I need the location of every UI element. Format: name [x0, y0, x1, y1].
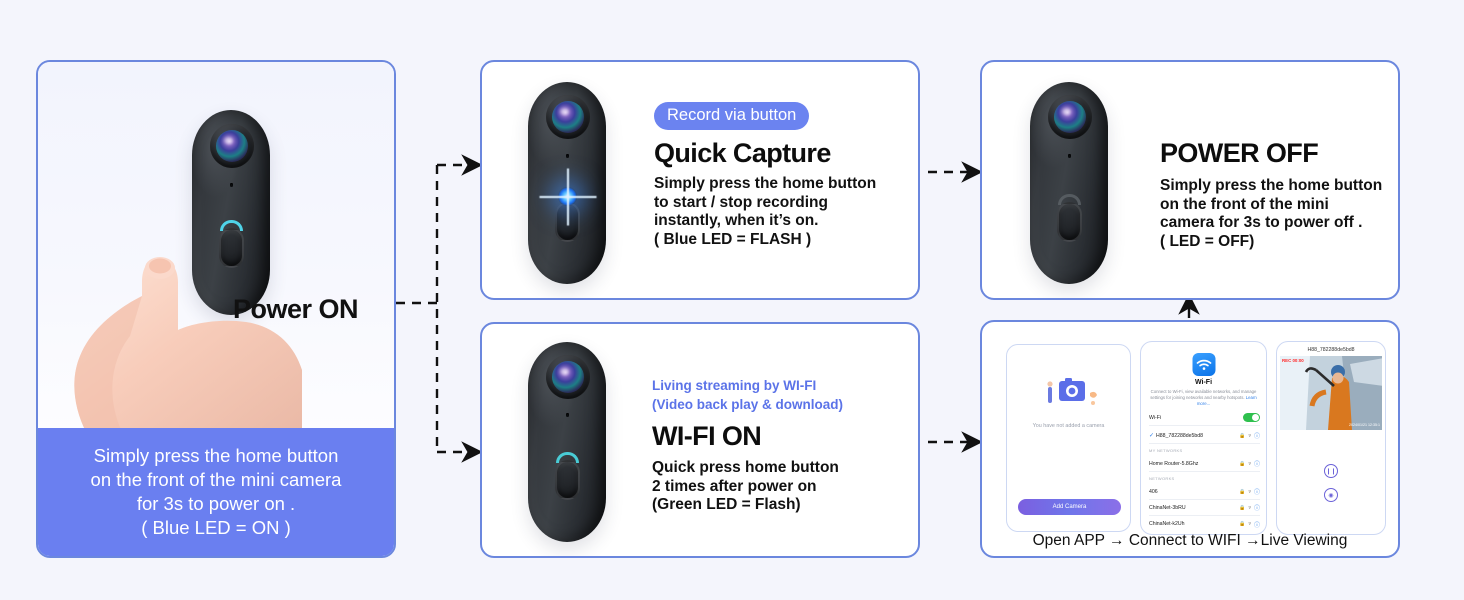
- wifi-on-desc-line-1: Quick press home button: [652, 459, 843, 478]
- quick-capture-desc-line-1: Simply press the home button: [654, 175, 876, 194]
- phone-screen-wifi-settings: Wi-Fi Connect to Wi-Fi, view available n…: [1140, 341, 1267, 535]
- wifi-desc-text: Connect to Wi-Fi, view available network…: [1150, 389, 1256, 400]
- wifi-on-desc-line-2: 2 times after power on: [652, 478, 843, 497]
- empty-state-illustration-icon: [1037, 373, 1101, 413]
- camera-microphone: [566, 413, 570, 417]
- section-networks: NETWORKS: [1149, 476, 1175, 481]
- snapshot-button[interactable]: ◉: [1324, 488, 1338, 502]
- wifi-toggle-row[interactable]: Wi-Fi: [1149, 410, 1260, 426]
- connected-network-name: H88_782288de5bd8: [1156, 433, 1203, 439]
- video-timestamp: 2024/01/21 12:35:1: [1349, 423, 1380, 427]
- network-name: 406: [1149, 489, 1158, 495]
- network-name: Home Router-5.8Ghz: [1149, 461, 1198, 467]
- signal-icon: ▿: [1248, 489, 1251, 495]
- add-camera-button[interactable]: Add Camera: [1018, 499, 1121, 515]
- power-on-caption-line-3: for 3s to power on .: [137, 492, 295, 516]
- camera-device-power-off: [1030, 82, 1108, 284]
- info-icon[interactable]: ⓘ: [1254, 431, 1260, 440]
- app-flow-caption: Open APP → Connect to WIFI →Live Viewing: [982, 532, 1398, 550]
- quick-capture-title: Quick Capture: [654, 138, 876, 169]
- panel-power-off: POWER OFF Simply press the home button o…: [980, 60, 1400, 300]
- infographic-canvas: Power ON Simply press the home button on…: [0, 0, 1464, 600]
- wifi-on-desc-line-3: (Green LED = Flash): [652, 496, 843, 515]
- camera-lens: [552, 101, 584, 133]
- signal-icon: ▿: [1248, 521, 1251, 527]
- info-icon[interactable]: ⓘ: [1254, 520, 1260, 529]
- wifi-settings-description: Connect to Wi-Fi, view available network…: [1149, 389, 1258, 407]
- section-my-networks: MY NETWORKS: [1149, 448, 1182, 453]
- phone-screen-live-view: H88_782288de5bd8 REC 00:00 2024/01/21 12…: [1276, 341, 1386, 535]
- record-via-button-badge: Record via button: [654, 102, 809, 130]
- wifi-icon: [1192, 353, 1215, 376]
- power-off-desc-line-4: ( LED = OFF): [1160, 233, 1382, 252]
- empty-state-text: You have not added a camera: [1007, 423, 1130, 429]
- camera-device-wifi-on: [528, 342, 606, 542]
- camera-home-button[interactable]: [1057, 202, 1082, 242]
- camera-lens: [216, 130, 248, 162]
- camera-microphone: [1068, 154, 1072, 158]
- power-on-caption: Simply press the home button on the fron…: [38, 428, 394, 556]
- lock-icon: 🔒: [1239, 521, 1245, 527]
- power-on-caption-line-1: Simply press the home button: [94, 444, 339, 468]
- wifi-on-title: WI-FI ON: [652, 421, 843, 452]
- camera-device-quick-capture: [528, 82, 606, 284]
- connected-network-row[interactable]: ✓ H88_782288de5bd8 🔒 ▿ ⓘ: [1149, 428, 1260, 444]
- wifi-settings-title: Wi-Fi: [1141, 379, 1266, 386]
- recording-badge: REC 00:00: [1282, 358, 1304, 363]
- power-on-caption-line-4: ( Blue LED = ON ): [141, 516, 291, 540]
- power-off-desc-line-1: Simply press the home button: [1160, 177, 1382, 196]
- info-icon[interactable]: ⓘ: [1254, 487, 1260, 496]
- wifi-on-text-block: Living streaming by WI-FI (Video back pl…: [652, 376, 843, 515]
- power-on-caption-line-2: on the front of the mini camera: [91, 468, 342, 492]
- wifi-on-sub-line-2: (Video back play & download): [652, 395, 843, 414]
- network-row[interactable]: ChinaNet-3bRU 🔒▿ⓘ: [1149, 500, 1260, 516]
- camera-microphone: [230, 183, 234, 187]
- panel-quick-capture: Record via button Quick Capture Simply p…: [480, 60, 920, 300]
- wifi-toggle-switch[interactable]: [1243, 413, 1260, 423]
- lock-icon: 🔒: [1239, 433, 1245, 439]
- camera-lens: [1054, 101, 1086, 133]
- network-row[interactable]: 406 🔒▿ⓘ: [1149, 484, 1260, 500]
- info-icon[interactable]: ⓘ: [1254, 503, 1260, 512]
- live-video-feed[interactable]: REC 00:00 2024/01/21 12:35:1: [1280, 356, 1382, 430]
- quick-capture-desc-line-2: to start / stop recording: [654, 194, 876, 213]
- pause-button[interactable]: ❙❙: [1324, 464, 1338, 478]
- panel-app-flow: You have not added a camera Add Camera W…: [980, 320, 1400, 558]
- signal-icon: ▿: [1248, 505, 1251, 511]
- network-name: ChinaNet-3bRU: [1149, 505, 1186, 511]
- lock-icon: 🔒: [1239, 505, 1245, 511]
- power-off-desc-line-2: on the front of the mini: [1160, 196, 1382, 215]
- camera-microphone: [566, 154, 570, 158]
- quick-capture-desc-line-4: ( Blue LED = FLASH ): [654, 231, 876, 250]
- phone-screen-add-camera: You have not added a camera Add Camera: [1006, 344, 1131, 532]
- live-view-title: H88_782288de5bd8: [1277, 347, 1385, 353]
- power-on-title: Power ON: [233, 294, 358, 325]
- camera-home-button[interactable]: [555, 460, 580, 500]
- lock-icon: 🔒: [1239, 461, 1245, 467]
- power-on-visual: Power ON: [38, 62, 394, 432]
- network-row[interactable]: ChinaNet-k2Uh 🔒▿ⓘ: [1149, 516, 1260, 532]
- signal-icon: ▿: [1248, 433, 1251, 439]
- wifi-toggle-label: Wi-Fi: [1149, 415, 1161, 421]
- power-off-desc-line-3: camera for 3s to power off .: [1160, 214, 1382, 233]
- network-name: ChinaNet-k2Uh: [1149, 521, 1184, 527]
- network-row[interactable]: Home Router-5.8Ghz 🔒 ▿ ⓘ: [1149, 456, 1260, 472]
- panel-wifi-on: Living streaming by WI-FI (Video back pl…: [480, 322, 920, 558]
- quick-capture-text-block: Record via button Quick Capture Simply p…: [654, 102, 876, 249]
- info-icon[interactable]: ⓘ: [1254, 459, 1260, 468]
- panel-power-on: Power ON Simply press the home button on…: [36, 60, 396, 558]
- power-off-title: POWER OFF: [1160, 138, 1382, 169]
- checkmark-icon: ✓: [1149, 432, 1154, 439]
- wifi-on-sub-line-1: Living streaming by WI-FI: [652, 376, 843, 395]
- signal-icon: ▿: [1248, 461, 1251, 467]
- led-indicator-blue-flash: [558, 187, 577, 206]
- quick-capture-desc-line-3: instantly, when it’s on.: [654, 212, 876, 231]
- lock-icon: 🔒: [1239, 489, 1245, 495]
- power-off-text-block: POWER OFF Simply press the home button o…: [1160, 138, 1382, 251]
- camera-lens: [552, 361, 584, 393]
- hand-pressing-button: [50, 252, 315, 432]
